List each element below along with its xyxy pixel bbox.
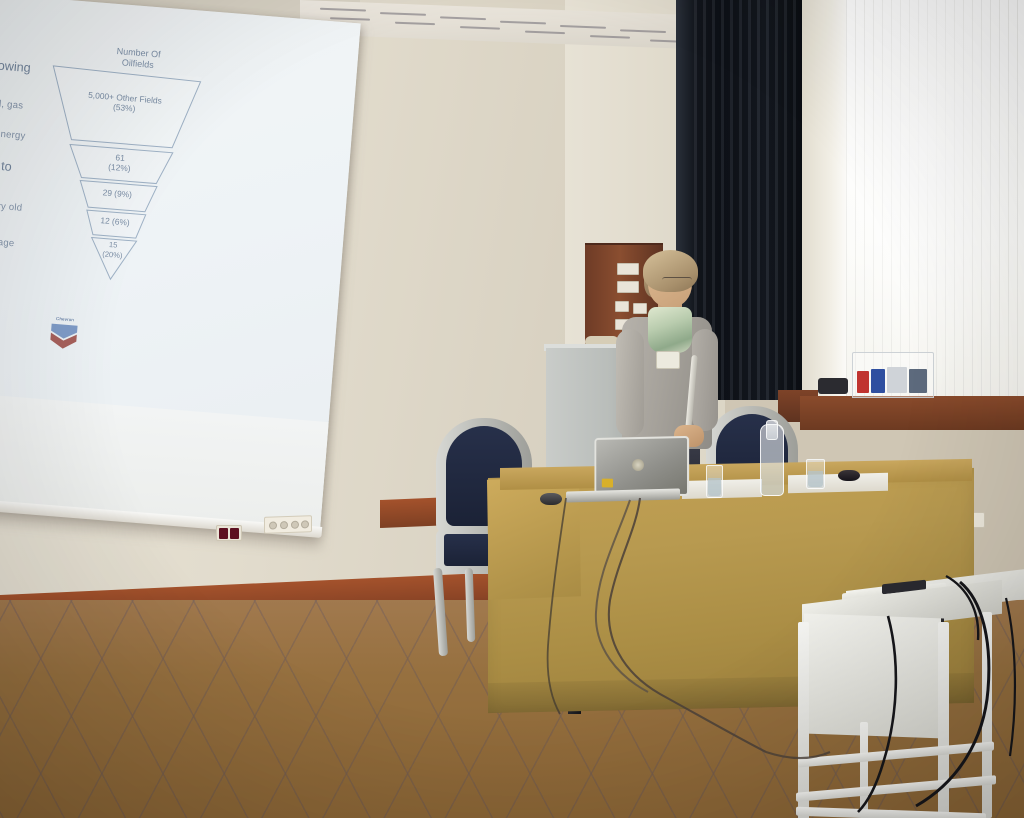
- image-vignette: [0, 0, 1024, 818]
- conference-room-photo: " and growing ng to use oil, gas using m…: [0, 0, 1024, 818]
